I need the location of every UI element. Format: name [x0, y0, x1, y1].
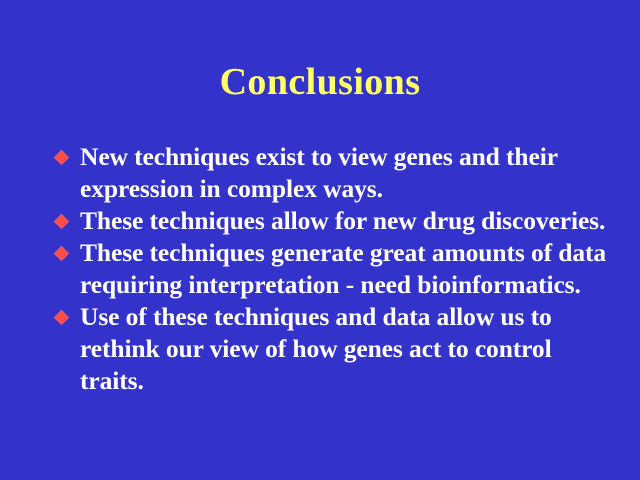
diamond-bullet-icon: [54, 214, 70, 230]
presentation-slide: Conclusions New techniques exist to view…: [0, 0, 640, 480]
diamond-bullet-icon: [54, 310, 70, 326]
diamond-bullet-icon: [54, 150, 70, 166]
bullet-list: New techniques exist to view genes and t…: [52, 141, 612, 397]
list-item-label: Use of these techniques and data allow u…: [80, 301, 612, 397]
list-item-label: These techniques generate great amounts …: [80, 237, 612, 301]
list-item: These techniques allow for new drug disc…: [52, 205, 612, 237]
list-item: These techniques generate great amounts …: [52, 237, 612, 301]
list-item-label: New techniques exist to view genes and t…: [80, 141, 612, 205]
diamond-bullet-icon: [54, 246, 70, 262]
page-title: Conclusions: [0, 60, 640, 104]
list-item: New techniques exist to view genes and t…: [52, 141, 612, 205]
list-item-label: These techniques allow for new drug disc…: [80, 205, 612, 237]
list-item: Use of these techniques and data allow u…: [52, 301, 612, 397]
